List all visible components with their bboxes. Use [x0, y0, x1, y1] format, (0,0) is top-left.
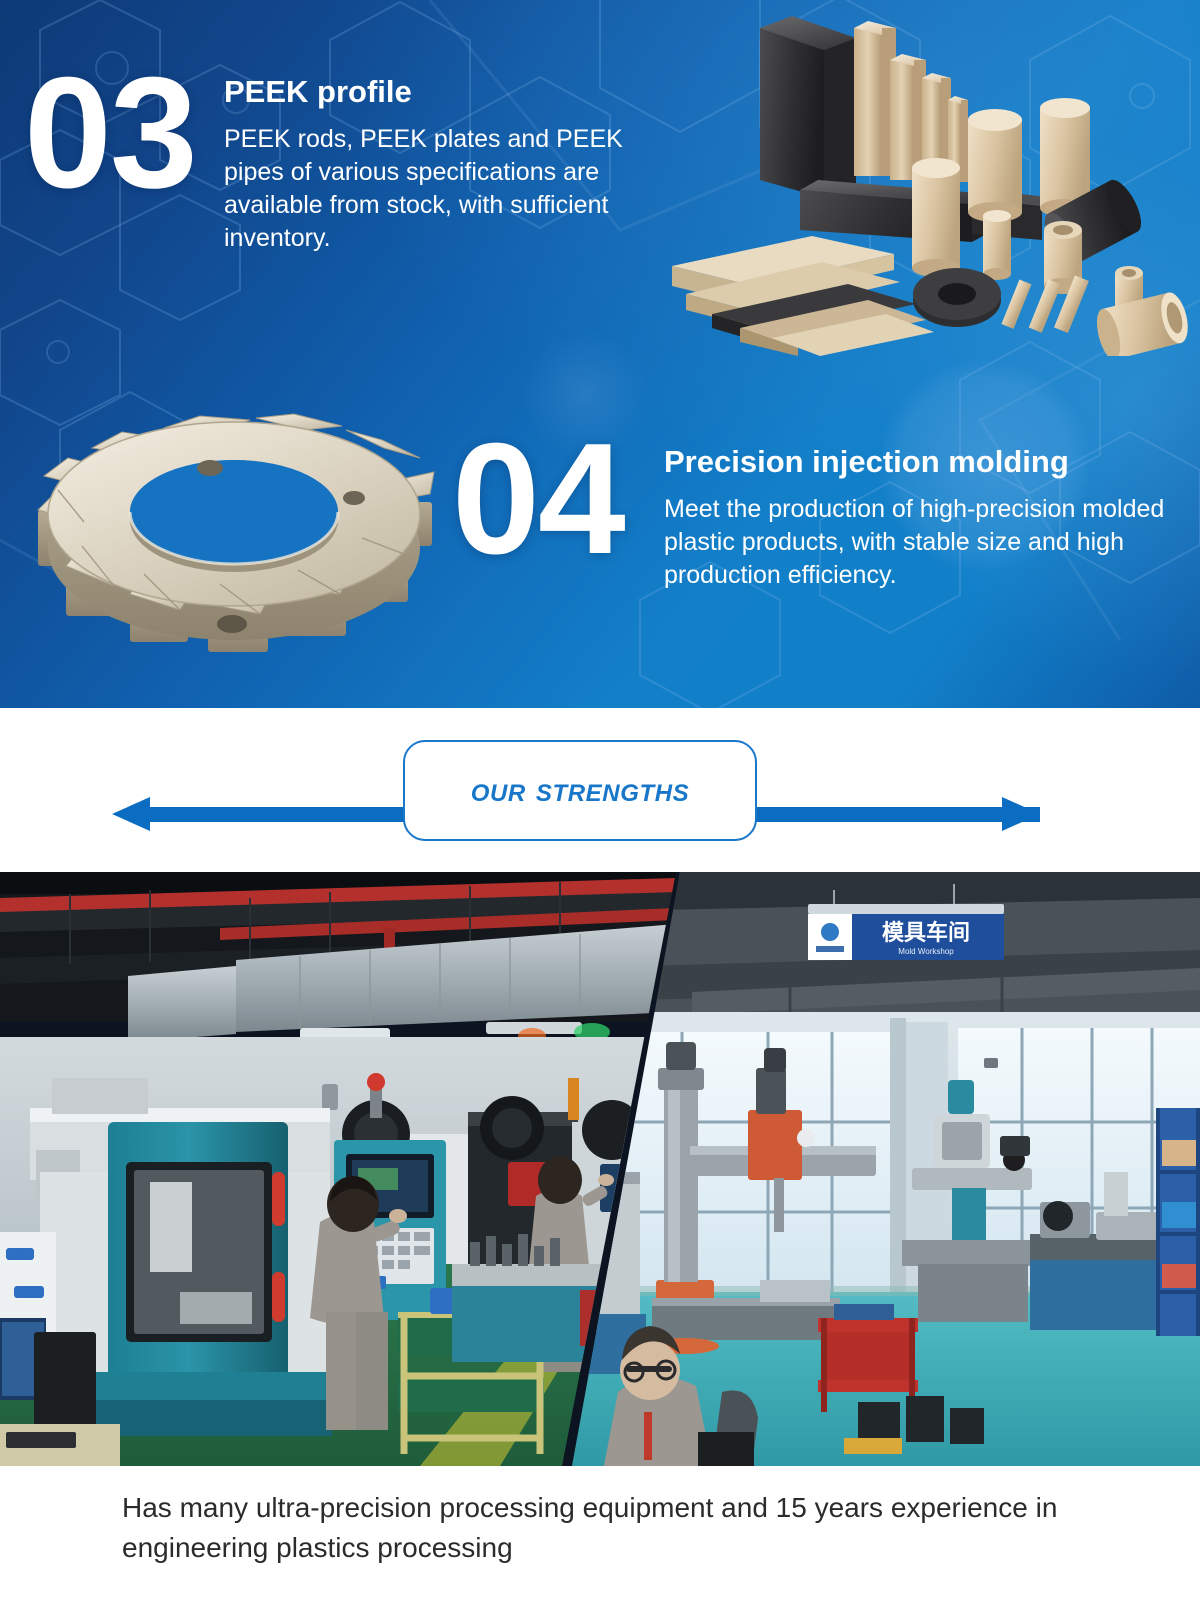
feature-description-03: PEEK rods, PEEK plates and PEEK pipes of… — [224, 123, 664, 256]
our-strengths-banner: Our strengths — [0, 708, 1200, 880]
peek-machined-gear-photo — [28, 378, 440, 674]
right-arrow-icon — [1002, 797, 1040, 831]
feature-title-04: Precision injection molding — [664, 444, 1182, 481]
feature-block-04: 04 Precision injection molding Meet the … — [452, 424, 1182, 592]
our-strengths-label: Our strengths — [471, 771, 690, 810]
feature-description-04: Meet the production of high-precision mo… — [664, 493, 1182, 593]
svg-text:模具车间: 模具车间 — [882, 920, 970, 946]
bottom-caption: Has many ultra-precision processing equi… — [0, 1466, 1200, 1612]
feature-title-03: PEEK profile — [224, 74, 664, 111]
cnc-machining-workshop-photo — [0, 872, 676, 1466]
caption-text: Has many ultra-precision processing equi… — [122, 1488, 1080, 1568]
feature-block-03: 03 PEEK profile PEEK rods, PEEK plates a… — [24, 58, 664, 256]
hero-panel: 03 PEEK profile PEEK rods, PEEK plates a… — [0, 0, 1200, 708]
feature-number-03: 03 — [24, 58, 224, 208]
mold-workshop-photo: 模具车间 Mold Workshop — [572, 872, 1200, 1466]
right-arrow-shaft — [740, 807, 1040, 822]
left-arrow-icon — [112, 797, 150, 831]
our-strengths-box: Our strengths — [403, 740, 757, 841]
workshop-photo-strip: 模具车间 Mold Workshop — [0, 872, 1200, 1466]
peek-stock-shapes-photo — [672, 8, 1192, 356]
marketing-page: 03 PEEK profile PEEK rods, PEEK plates a… — [0, 0, 1200, 1612]
feature-number-04: 04 — [452, 424, 664, 574]
svg-text:Mold Workshop: Mold Workshop — [898, 947, 954, 956]
